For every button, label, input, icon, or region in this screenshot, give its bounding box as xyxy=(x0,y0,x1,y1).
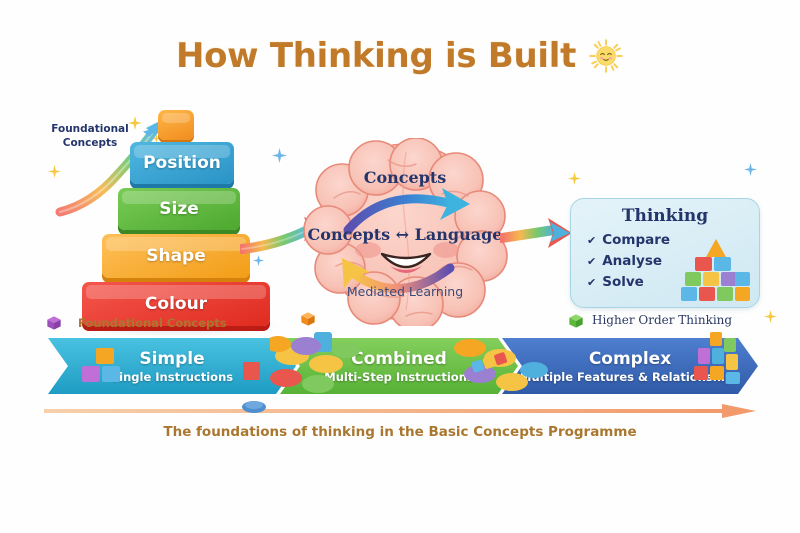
blue-counter-icon xyxy=(241,400,267,414)
foundational-concepts-caption: Foundational Concepts xyxy=(78,316,227,330)
toy-blocks-icon xyxy=(688,330,752,388)
pyramid-top-cube xyxy=(158,110,194,140)
toy-blocks-icon xyxy=(78,344,130,390)
thinking-skill-label: Solve xyxy=(602,272,644,293)
thinking-card[interactable]: Thinking ✔ Compare ✔ Analyse ✔ Solve xyxy=(570,198,760,308)
pyramid-block-label: Colour xyxy=(145,294,207,314)
stage-title: Simple xyxy=(139,349,204,369)
mediated-learning-label: Mediated Learning xyxy=(305,284,505,299)
brain-text-group: Concepts Concepts ↔ Language Mediated Le… xyxy=(305,140,505,320)
pyramid-block-label: Size xyxy=(159,199,199,219)
infographic-canvas: How Thinking is Built xyxy=(0,0,800,533)
title-text: How Thinking is Built xyxy=(176,36,576,76)
brain-concepts-language-label: Concepts ↔ Language xyxy=(305,225,505,244)
thinking-card-title: Thinking xyxy=(571,206,759,226)
brain-concepts-label: Concepts xyxy=(305,168,505,187)
sparkle-star-icon xyxy=(568,172,581,190)
thinking-skill-label: Compare xyxy=(602,230,670,251)
footer-caption: The foundations of thinking in the Basic… xyxy=(0,424,800,440)
progress-arrow-right-icon xyxy=(44,404,756,418)
counters-icon xyxy=(446,334,556,398)
stage-title: Complex xyxy=(589,349,671,369)
pyramid-block-shape: Shape xyxy=(102,234,250,278)
counters-icon xyxy=(270,330,410,400)
check-icon: ✔ xyxy=(587,253,596,270)
green-cube-icon xyxy=(568,313,584,329)
sun-smiling-icon xyxy=(588,38,624,74)
higher-order-thinking-caption: Higher Order Thinking xyxy=(592,313,732,327)
sparkle-star-icon xyxy=(764,310,777,328)
rainbow-arrow-right-icon xyxy=(500,212,580,254)
purple-cube-icon xyxy=(46,315,62,331)
page-title: How Thinking is Built xyxy=(0,36,800,76)
progression-band: Simple Single Instructions Combined Mult… xyxy=(48,338,758,394)
toy-block-red-icon xyxy=(240,358,264,384)
orange-cube-icon xyxy=(300,311,316,327)
pyramid-block-size: Size xyxy=(118,188,240,230)
building-blocks-icon xyxy=(679,237,753,303)
pyramid-block-label: Position xyxy=(143,153,221,173)
pyramid-block-position: Position xyxy=(130,142,234,184)
thinking-skill-label: Analyse xyxy=(602,251,662,272)
pyramid-block-label: Shape xyxy=(146,246,206,266)
check-icon: ✔ xyxy=(587,232,596,249)
sparkle-star-icon xyxy=(744,163,757,181)
check-icon: ✔ xyxy=(587,274,596,291)
